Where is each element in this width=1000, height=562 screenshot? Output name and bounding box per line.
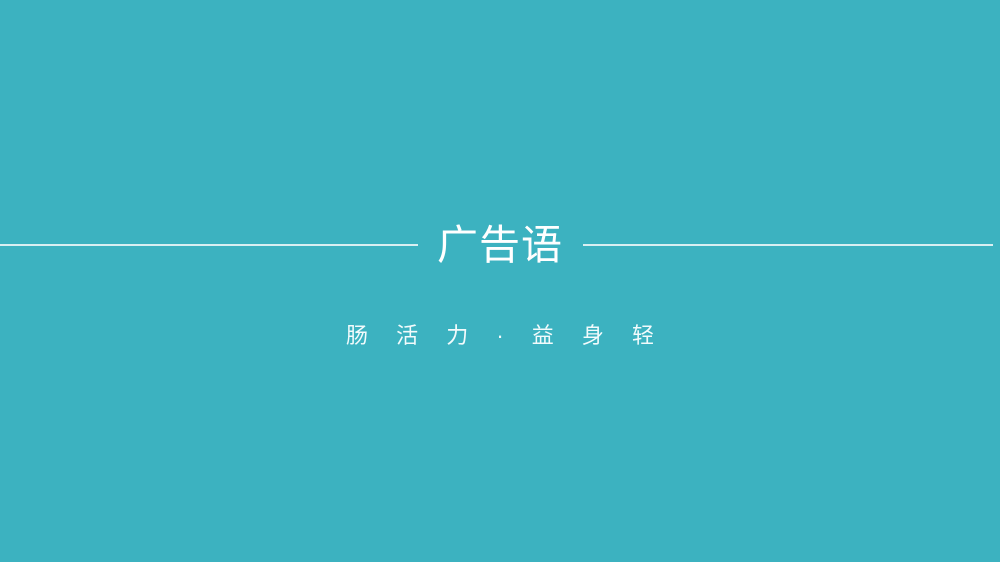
slide-title: 广告语 bbox=[0, 216, 1000, 274]
slide-subtitle: 肠 活 力 · 益 身 轻 bbox=[0, 320, 1000, 352]
slide-canvas: 广告语 肠 活 力 · 益 身 轻 bbox=[0, 0, 1000, 562]
